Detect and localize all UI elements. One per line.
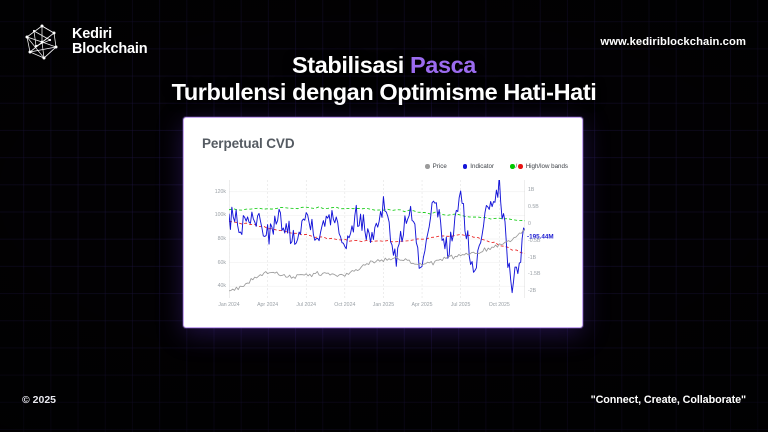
chart-card[interactable]: Perpetual CVD Price Indicator / High/low… — [183, 117, 583, 328]
copyright-text: © 2025 — [22, 394, 56, 406]
title-line-1-text: Stabilisasi — [292, 52, 410, 78]
x-axis-tick: Jul 2025 — [451, 302, 471, 308]
left-axis-tick: 40k — [218, 283, 226, 289]
left-axis-tick: 100k — [215, 212, 226, 218]
footer: © 2025 "Connect, Create, Collaborate" — [0, 382, 768, 432]
chart-card-title: Perpetual CVD — [202, 136, 294, 151]
site-url[interactable]: www.kediriblockchain.com — [600, 36, 746, 48]
page-title: Stabilisasi Pasca Turbulensi dengan Opti… — [0, 52, 768, 106]
indicator-value-callout: -195.44M — [527, 234, 554, 241]
legend-item-bands[interactable]: / High/low bands — [510, 163, 568, 170]
x-axis-tick: Apr 2024 — [257, 302, 278, 308]
title-line-1: Stabilisasi Pasca — [0, 52, 768, 79]
legend-dot-icon-low — [518, 164, 523, 169]
chart-legend: Price Indicator / High/low bands — [425, 163, 568, 170]
price-series-group — [229, 230, 525, 291]
x-axis-tick: Jan 2025 — [373, 302, 394, 308]
indicator-series-group — [229, 180, 525, 293]
legend-item-price[interactable]: Price — [425, 163, 447, 170]
left-axis-tick: 120k — [215, 189, 226, 195]
legend-item-indicator[interactable]: Indicator — [463, 163, 494, 170]
title-line-2: Turbulensi dengan Optimisme Hati-Hati — [0, 79, 768, 106]
right-axis-tick: 0 — [528, 221, 531, 227]
x-axis-tick: Jul 2024 — [296, 302, 316, 308]
legend-dot-icon-indicator — [463, 164, 468, 169]
x-axis-tick: Jan 2024 — [218, 302, 239, 308]
tagline-text: "Connect, Create, Collaborate" — [591, 394, 746, 406]
left-axis-tick: 60k — [218, 260, 226, 266]
legend-dot-icon-price — [425, 164, 430, 169]
right-axis-tick: 0.5B — [528, 204, 539, 210]
legend-label-indicator: Indicator — [470, 163, 494, 170]
right-axis-tick: -2B — [528, 288, 536, 294]
legend-dot-icon-high — [510, 164, 515, 169]
title-accent-word: Pasca — [410, 52, 476, 78]
right-axis-tick: 1B — [528, 187, 534, 193]
x-axis-tick: Apr 2025 — [412, 302, 433, 308]
brand-name-line1: Kediri — [72, 27, 147, 42]
legend-label-bands: High/low bands — [526, 163, 568, 170]
chart-plot-area[interactable]: 40k60k80k100k120k 1B0.5B0-0.5B-1B-1.5B-2… — [229, 180, 525, 298]
x-axis-tick: Oct 2024 — [334, 302, 355, 308]
x-axis-tick: Oct 2025 — [489, 302, 510, 308]
left-axis-tick: 80k — [218, 236, 226, 242]
legend-label-price: Price — [433, 163, 447, 170]
right-axis-tick: -1.5B — [528, 271, 540, 277]
right-axis-tick: -1B — [528, 255, 536, 261]
chart-svg — [229, 180, 525, 298]
legend-separator: / — [516, 164, 518, 170]
legend-dual-dot-icon-bands: / — [510, 164, 523, 170]
